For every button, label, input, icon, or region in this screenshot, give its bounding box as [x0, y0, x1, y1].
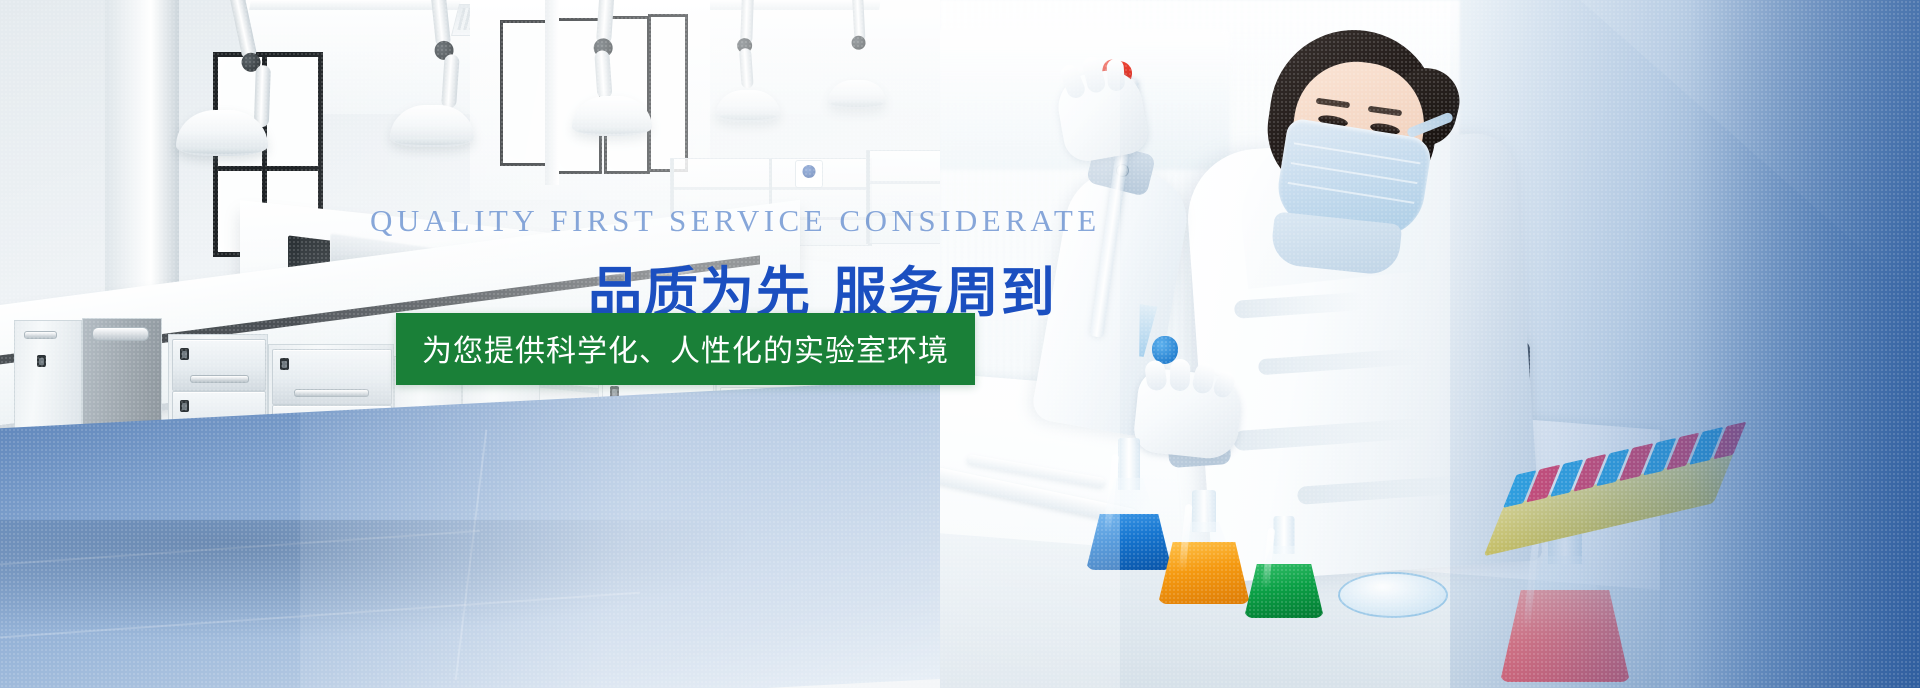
banner-subtitle-text: 为您提供科学化、人性化的实验室环境 — [422, 334, 949, 369]
hero-banner: QUALITY FIRST SERVICE CONSIDERATE 品质为先 服… — [0, 0, 1920, 688]
banner-subtitle-bar: 为您提供科学化、人性化的实验室环境 — [396, 313, 975, 385]
banner-eyebrow-text: QUALITY FIRST SERVICE CONSIDERATE — [370, 203, 1101, 239]
banner-text-layer: QUALITY FIRST SERVICE CONSIDERATE 品质为先 服… — [0, 0, 1920, 688]
